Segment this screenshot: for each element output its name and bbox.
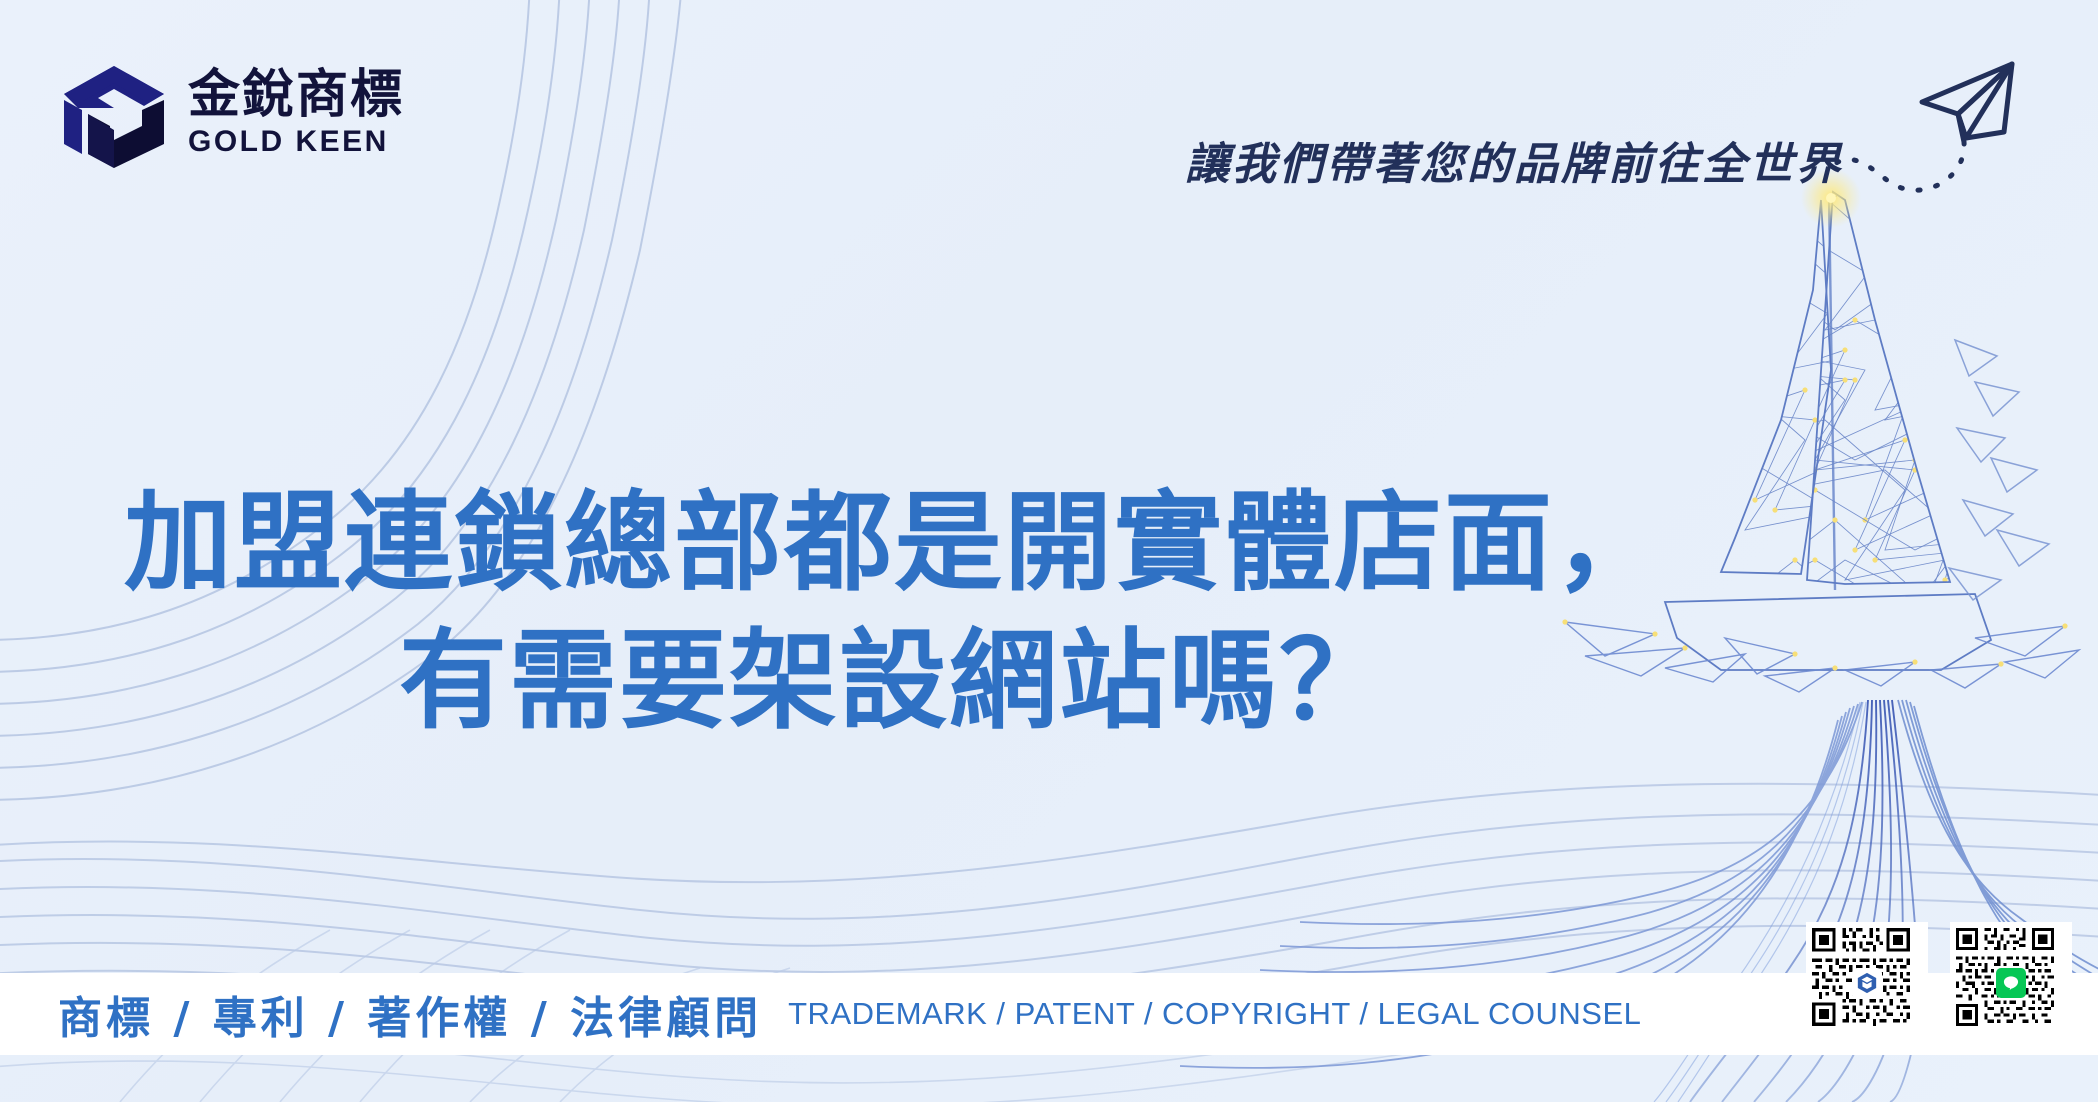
headline-line-1: 加盟連鎖總部都是開實體店面， [0,475,1788,613]
footer-services-en: TRADEMARK / PATENT / COPYRIGHT / LEGAL C… [788,996,1641,1032]
gold-keen-logo-icon [1852,968,1882,998]
brand-logo[interactable]: 金銳商標 GOLD KEEN [58,58,404,168]
hexagon-cube-logo-icon [58,58,170,168]
line-app-icon [1996,968,2026,998]
promotional-banner: 金銳商標 GOLD KEEN 讓我們帶著您的品牌前往全世界 加盟連鎖總部都是開實… [0,0,2098,1102]
brand-name-cn: 金銳商標 [188,69,404,121]
qr-code-line[interactable] [1950,922,2072,1044]
brand-name-en: GOLD KEEN [188,127,404,157]
header-tagline: 讓我們帶著您的品牌前往全世界 [1185,128,1843,192]
paper-plane-icon [1816,38,2076,218]
qr-code-website[interactable] [1806,922,1928,1044]
page-title: 加盟連鎖總部都是開實體店面， 有需要架設網站嗎？ [0,475,2098,751]
headline-line-2: 有需要架設網站嗎？ [0,613,1788,751]
footer-services-bar: 商標 / 專利 / 著作權 / 法律顧問 TRADEMARK / PATENT … [0,973,2098,1055]
qr-code-group [1806,922,2072,1044]
footer-services-cn: 商標 / 專利 / 著作權 / 法律顧問 [58,982,762,1046]
